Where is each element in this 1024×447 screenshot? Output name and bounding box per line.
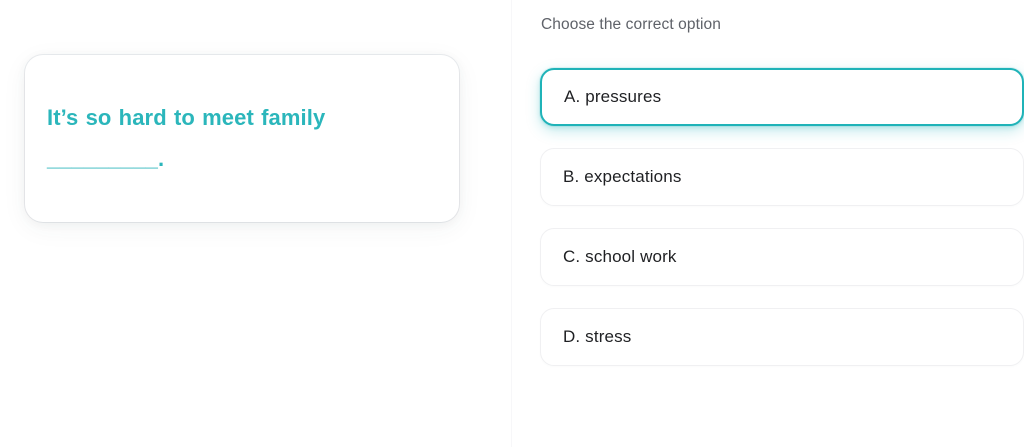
question-card: It’s so hard to meet family _________.: [25, 55, 459, 222]
answers-panel: Choose the correct option A. pressures B…: [512, 0, 1024, 447]
quiz-screen: It’s so hard to meet family _________. C…: [0, 0, 1024, 447]
instruction-label: Choose the correct option: [541, 14, 721, 36]
option-list: A. pressures B. expectations C. school w…: [540, 68, 1024, 366]
question-panel: It’s so hard to meet family _________.: [0, 0, 512, 447]
question-prompt-text: It’s so hard to meet family _________.: [47, 97, 429, 179]
option-b[interactable]: B. expectations: [540, 148, 1024, 206]
option-a[interactable]: A. pressures: [540, 68, 1024, 126]
option-d[interactable]: D. stress: [540, 308, 1024, 366]
option-c[interactable]: C. school work: [540, 228, 1024, 286]
